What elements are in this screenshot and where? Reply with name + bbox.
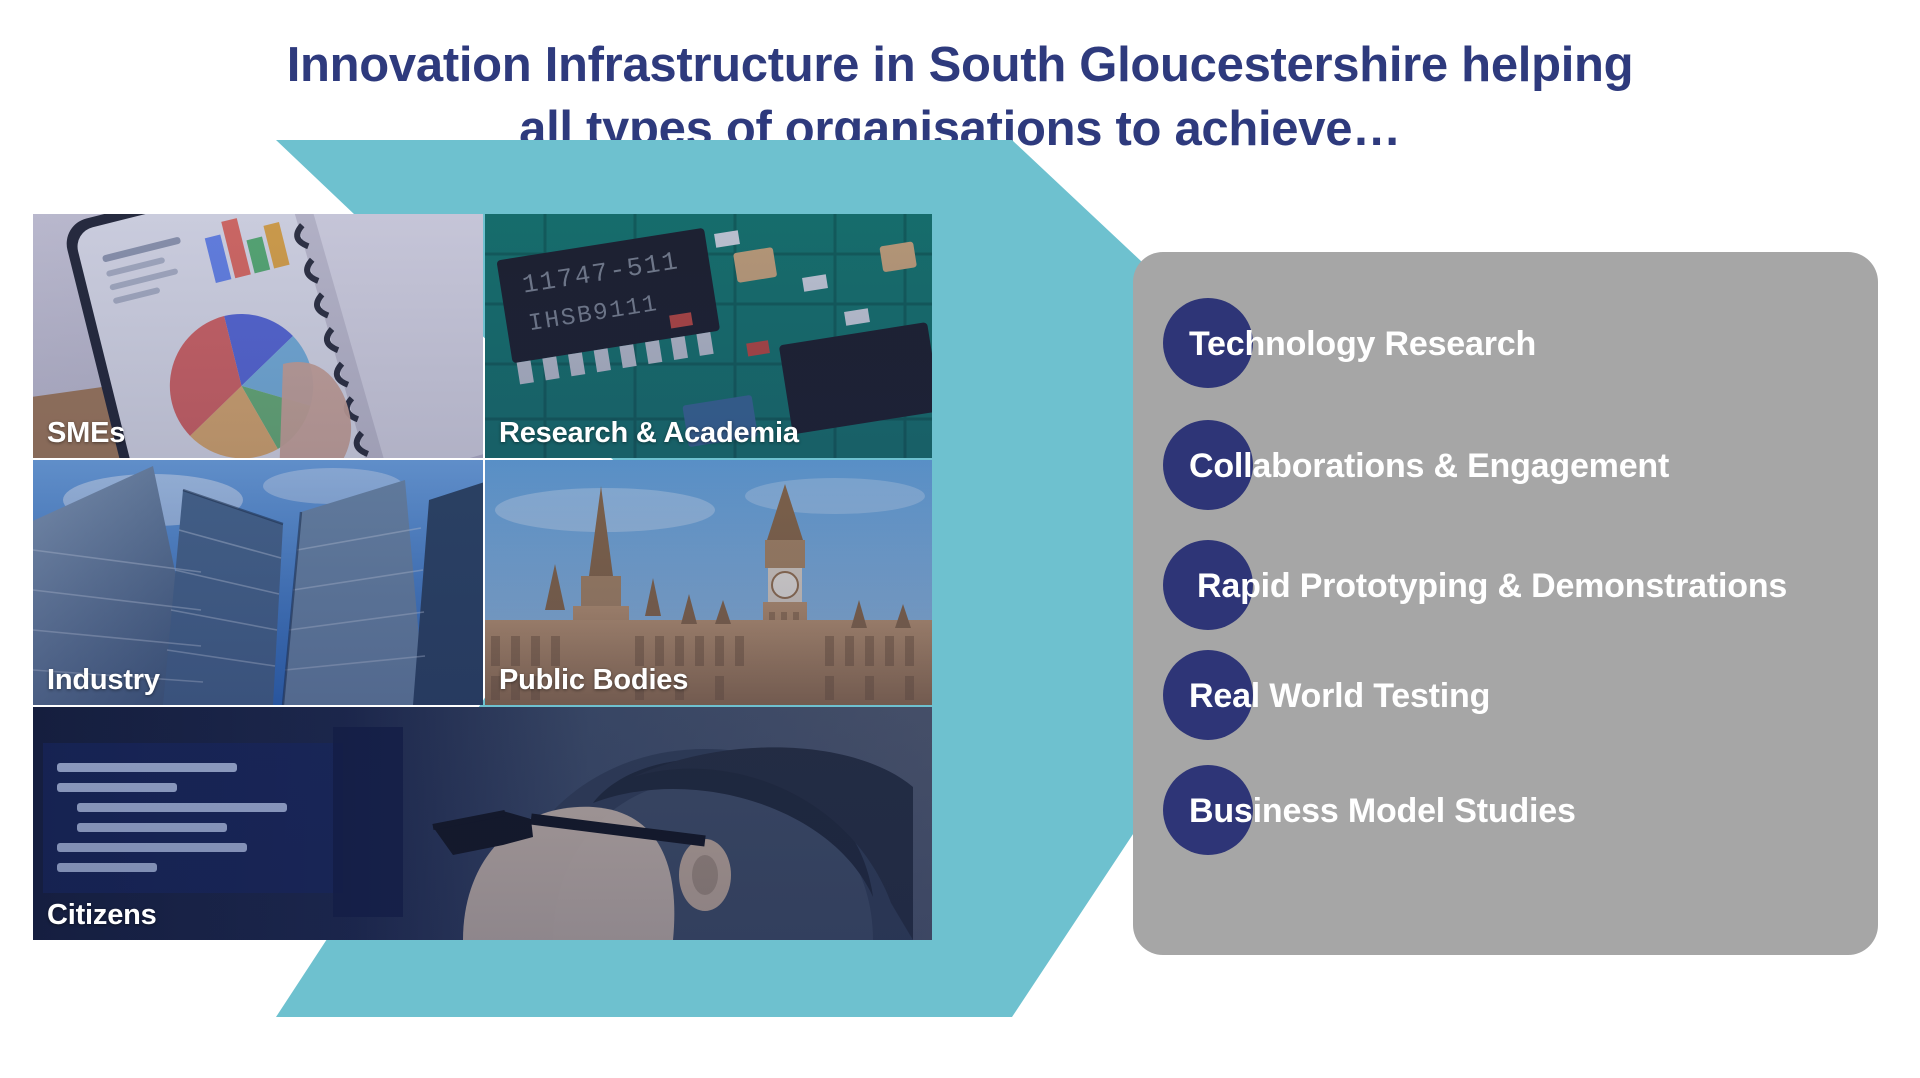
collage-cell-citizens[interactable]: Citizens — [33, 707, 932, 940]
list-item-technology-research[interactable]: Technology Research — [1163, 298, 1536, 390]
slide-canvas: Innovation Infrastructure in South Glouc… — [0, 0, 1920, 1078]
collage-label-smes: SMEs — [47, 417, 125, 450]
collage-label-citizens: Citizens — [47, 899, 157, 932]
collage-cell-industry[interactable]: Industry — [33, 460, 483, 705]
list-item-collaborations-engagement[interactable]: Collaborations & Engagement — [1163, 420, 1669, 512]
collage-tint-citizens — [33, 707, 932, 940]
collage-cell-smes[interactable]: SMEs — [33, 214, 483, 458]
list-item-real-world-testing[interactable]: Real World Testing — [1163, 650, 1490, 742]
list-item-label: Collaborations & Engagement — [1189, 447, 1669, 486]
page-title-line-1: Innovation Infrastructure in South Glouc… — [160, 34, 1760, 98]
page-title-line-2: all types of organisations to achieve… — [160, 98, 1760, 162]
collage-label-industry: Industry — [47, 664, 160, 697]
collage-label-research: Research & Academia — [499, 417, 799, 450]
list-item-label: Technology Research — [1189, 325, 1536, 364]
collage-cell-public[interactable]: Public Bodies — [485, 460, 932, 705]
page-title: Innovation Infrastructure in South Glouc… — [160, 34, 1760, 161]
list-item-label: Business Model Studies — [1189, 792, 1576, 831]
list-item-rapid-prototyping-demonstrations[interactable]: Rapid Prototyping & Demonstrations — [1163, 540, 1787, 632]
organisation-image-collage: SMEs — [33, 214, 932, 940]
list-item-label: Real World Testing — [1189, 677, 1490, 716]
collage-label-public: Public Bodies — [499, 664, 688, 697]
collage-cell-research[interactable]: 11747-511 IHSB9111 — [485, 214, 932, 458]
list-item-label: Rapid Prototyping & Demonstrations — [1197, 567, 1787, 606]
list-item-business-model-studies[interactable]: Business Model Studies — [1163, 765, 1576, 857]
